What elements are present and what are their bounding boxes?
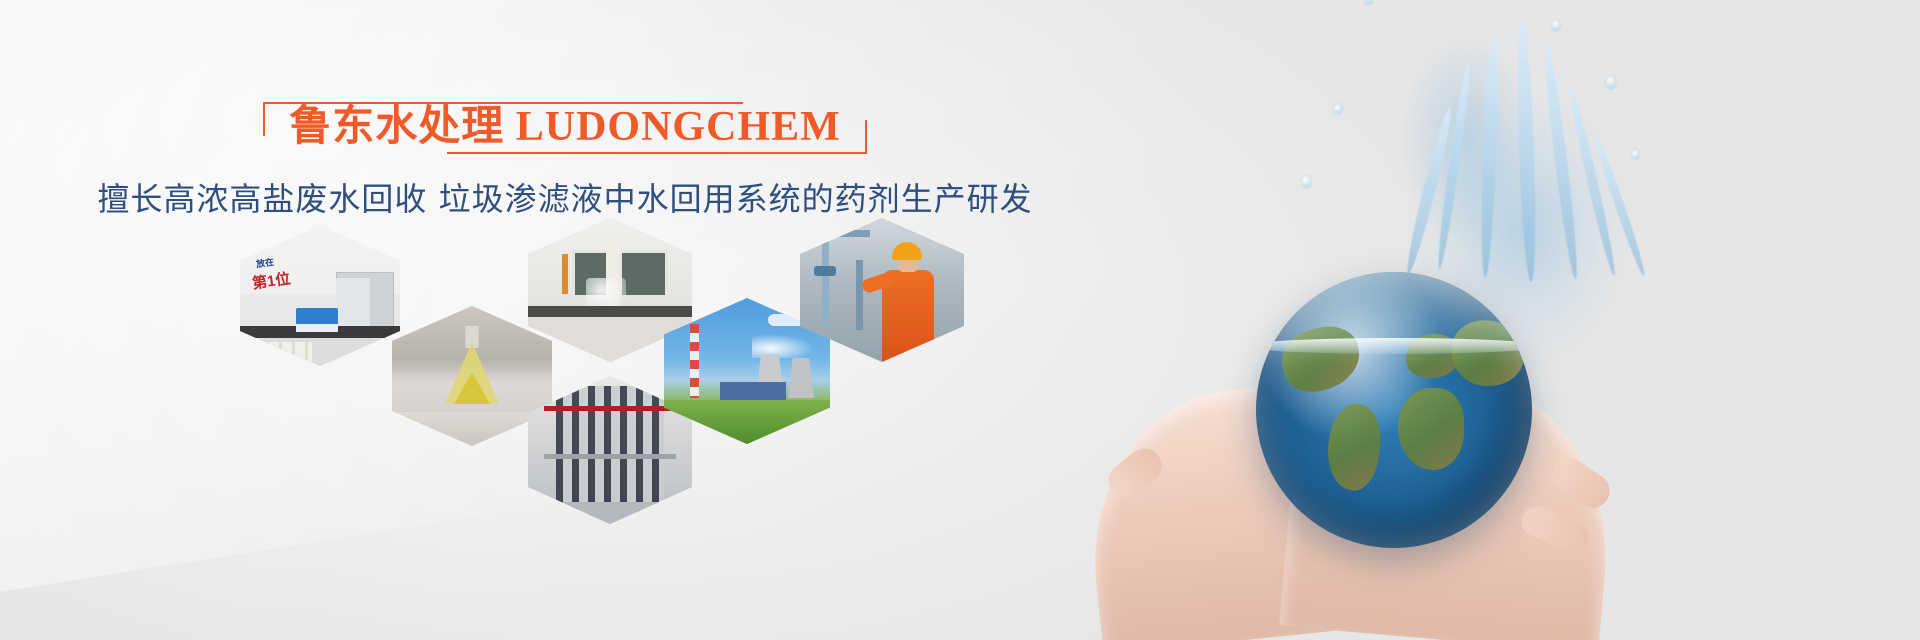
- company-title: 鲁东水处理 LUDONGCHEM: [289, 98, 841, 156]
- water-droplet: [1334, 104, 1342, 114]
- water-droplet: [1632, 150, 1639, 159]
- title-bracket-frame: 鲁东水处理 LUDONGCHEM: [263, 98, 867, 156]
- hero-banner: 鲁东水处理 LUDONGCHEM 擅长高浓高盐废水回收 垃圾渗滤液中水回用系统的…: [0, 0, 1920, 640]
- title-row: 鲁东水处理 LUDONGCHEM: [0, 96, 1130, 158]
- hands-holding-globe: [1080, 310, 1640, 640]
- water-droplet: [1552, 20, 1560, 31]
- banner-text-block: 鲁东水处理 LUDONGCHEM 擅长高浓高盐废水回收 垃圾渗滤液中水回用系统的…: [0, 96, 1130, 220]
- water-droplet: [1364, 0, 1373, 4]
- bracket-top-left-vertical: [263, 102, 265, 136]
- water-droplet: [1302, 176, 1311, 188]
- water-globe-scene: [1040, 0, 1920, 640]
- bracket-bottom-right-vertical: [865, 120, 867, 154]
- hexagon-photo-cluster: 放在 第1位: [240, 218, 980, 528]
- hex-laboratory-equipment: 放在 第1位: [240, 226, 400, 366]
- earth-globe: [1256, 272, 1532, 548]
- banner-subtitle: 擅长高浓高盐废水回收 垃圾渗滤液中水回用系统的药剂生产研发: [0, 174, 1130, 220]
- bracket-bottom-right-horizontal: [447, 152, 867, 154]
- water-droplet: [1606, 76, 1616, 89]
- globe-glass-highlight: [1256, 272, 1532, 548]
- bracket-top-left-horizontal: [263, 102, 743, 104]
